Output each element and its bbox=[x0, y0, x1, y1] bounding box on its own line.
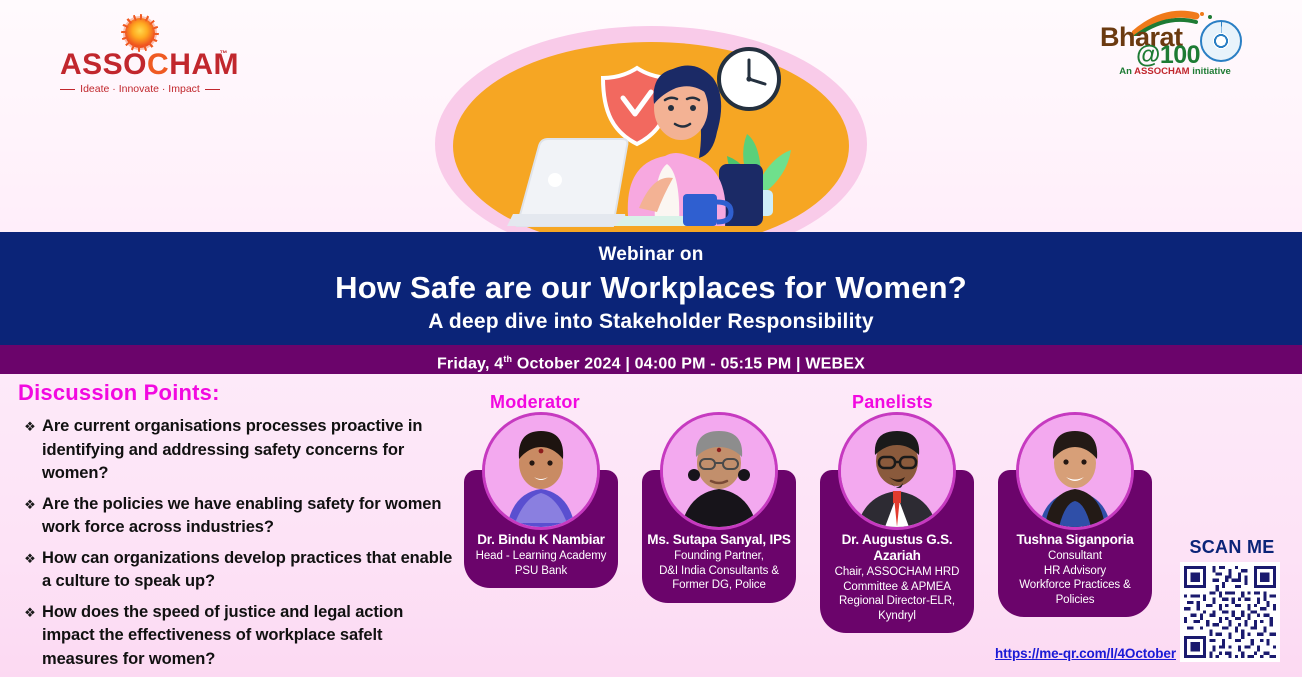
discussion-point: ❖ Are current organisations processes pr… bbox=[18, 415, 458, 486]
speaker-title-line: Committee & APMEA bbox=[825, 580, 969, 595]
discussion-point: ❖ Are the policies we have enabling safe… bbox=[18, 493, 458, 540]
sun-icon bbox=[60, 16, 220, 50]
avatar bbox=[1016, 412, 1134, 530]
date-time-band: Friday, 4th October 2024 | 04:00 PM - 05… bbox=[0, 345, 1302, 374]
bullet-diamond-icon: ❖ bbox=[18, 415, 42, 438]
speaker-title-line: Head - Learning Academy bbox=[469, 549, 613, 564]
avatar bbox=[482, 412, 600, 530]
speaker-title-line: Consultant bbox=[1003, 549, 1147, 564]
moderator-label: Moderator bbox=[490, 392, 580, 413]
assocham-word-suffix: HAM bbox=[169, 48, 239, 81]
discussion-point-text: How can organizations develop practices … bbox=[42, 547, 458, 594]
bullet-diamond-icon: ❖ bbox=[18, 493, 42, 516]
discussion-point-text: Are current organisations processes proa… bbox=[42, 415, 458, 486]
poster-header: ASSOCHAM™ Ideate · Innovate · Impact bbox=[0, 0, 1302, 232]
speaker-title-line: PSU Bank bbox=[469, 564, 613, 579]
tagline-rule-left bbox=[60, 89, 75, 90]
discussion-points-heading: Discussion Points: bbox=[18, 380, 458, 406]
assocham-word-highlight: C bbox=[147, 48, 169, 81]
speaker-title-line: HR Advisory bbox=[1003, 564, 1147, 579]
speaker-name: Ms. Sutapa Sanyal, IPS bbox=[647, 532, 791, 548]
speaker-titles: Chair, ASSOCHAM HRD Committee & APMEA Re… bbox=[825, 565, 969, 623]
speaker-titles: Consultant HR Advisory Workforce Practic… bbox=[1003, 549, 1147, 607]
event-datetime-rest: October 2024 | 04:00 PM - 05:15 PM | WEB… bbox=[512, 355, 865, 372]
discussion-point: ❖ How can organizations develop practice… bbox=[18, 547, 458, 594]
speaker-title-line: Founding Partner, bbox=[647, 549, 791, 564]
page-subtitle: A deep dive into Stakeholder Responsibil… bbox=[0, 310, 1302, 334]
poster-body: Discussion Points: ❖ Are current organis… bbox=[0, 374, 1302, 677]
speaker-card: Ms. Sutapa Sanyal, IPS Founding Partner,… bbox=[642, 470, 796, 603]
initiative-prefix: An bbox=[1119, 66, 1134, 77]
webinar-eyebrow: Webinar on bbox=[0, 244, 1302, 266]
initiative-highlight: ASSOCHAM bbox=[1134, 66, 1189, 77]
speaker-name: Dr. Augustus G.S. Azariah bbox=[825, 532, 969, 564]
assocham-tagline: Ideate · Innovate · Impact bbox=[60, 83, 220, 95]
bharat-at100-text: @100 bbox=[1136, 43, 1200, 68]
qr-registration-block: SCAN ME bbox=[1180, 537, 1284, 662]
panelists-label: Panelists bbox=[852, 392, 933, 413]
scan-me-label: SCAN ME bbox=[1180, 537, 1284, 558]
speaker-title-line: Chair, ASSOCHAM HRD bbox=[825, 565, 969, 580]
woman-working-on-laptop-illustration bbox=[431, 12, 871, 232]
wall-clock-icon bbox=[719, 49, 779, 109]
speaker-name: Dr. Bindu K Nambiar bbox=[469, 532, 613, 548]
speaker-titles: Founding Partner, D&I India Consultants … bbox=[647, 549, 791, 593]
speaker-card: Dr. Bindu K Nambiar Head - Learning Acad… bbox=[464, 470, 618, 588]
bullet-diamond-icon: ❖ bbox=[18, 547, 42, 570]
speaker-title-line: D&I India Consultants & bbox=[647, 564, 791, 579]
bharat-initiative-line: An ASSOCHAM initiative bbox=[1100, 66, 1250, 77]
speaker-titles: Head - Learning Academy PSU Bank bbox=[469, 549, 613, 578]
discussion-point-text: How does the speed of justice and legal … bbox=[42, 601, 458, 672]
qr-code[interactable] bbox=[1180, 562, 1280, 662]
bharat-at-100-logo: Bharat @100 An ASSOCHAM initiative bbox=[1100, 8, 1250, 70]
speakers-section: Moderator Panelists bbox=[462, 392, 1162, 672]
ashoka-chakra-icon bbox=[1200, 20, 1242, 62]
discussion-points-section: Discussion Points: ❖ Are current organis… bbox=[18, 380, 458, 677]
assocham-wordmark: ASSOCHAM™ bbox=[60, 50, 220, 80]
bullet-diamond-icon: ❖ bbox=[18, 601, 42, 624]
speaker-title-line: Former DG, Police bbox=[647, 578, 791, 593]
assocham-logo: ASSOCHAM™ Ideate · Innovate · Impact bbox=[60, 16, 220, 95]
date-ordinal: th bbox=[503, 354, 512, 364]
avatar bbox=[660, 412, 778, 530]
assocham-word-prefix: ASSO bbox=[60, 48, 147, 81]
speaker-title-line: Regional Director-ELR, Kyndryl bbox=[825, 594, 969, 623]
speaker-card: Dr. Augustus G.S. Azariah Chair, ASSOCHA… bbox=[820, 470, 974, 633]
tagline-rule-right bbox=[205, 89, 220, 90]
title-band: Webinar on How Safe are our Workplaces f… bbox=[0, 232, 1302, 345]
speaker-card: Tushna Siganporia Consultant HR Advisory… bbox=[998, 470, 1152, 617]
avatar bbox=[838, 412, 956, 530]
discussion-point-text: Are the policies we have enabling safety… bbox=[42, 493, 458, 540]
speaker-name: Tushna Siganporia bbox=[1003, 532, 1147, 548]
page-title: How Safe are our Workplaces for Women? bbox=[0, 270, 1302, 306]
event-day: Friday, 4 bbox=[437, 355, 503, 372]
initiative-suffix: initiative bbox=[1190, 66, 1231, 77]
webinar-poster: ASSOCHAM™ Ideate · Innovate · Impact bbox=[0, 0, 1302, 677]
discussion-point: ❖ How does the speed of justice and lega… bbox=[18, 601, 458, 672]
speaker-title-line: Workforce Practices & Policies bbox=[1003, 578, 1147, 607]
trademark-symbol: ™ bbox=[220, 50, 229, 58]
assocham-tagline-text: Ideate · Innovate · Impact bbox=[80, 83, 200, 95]
registration-link[interactable]: https://me-qr.com/l/4October bbox=[995, 646, 1176, 661]
